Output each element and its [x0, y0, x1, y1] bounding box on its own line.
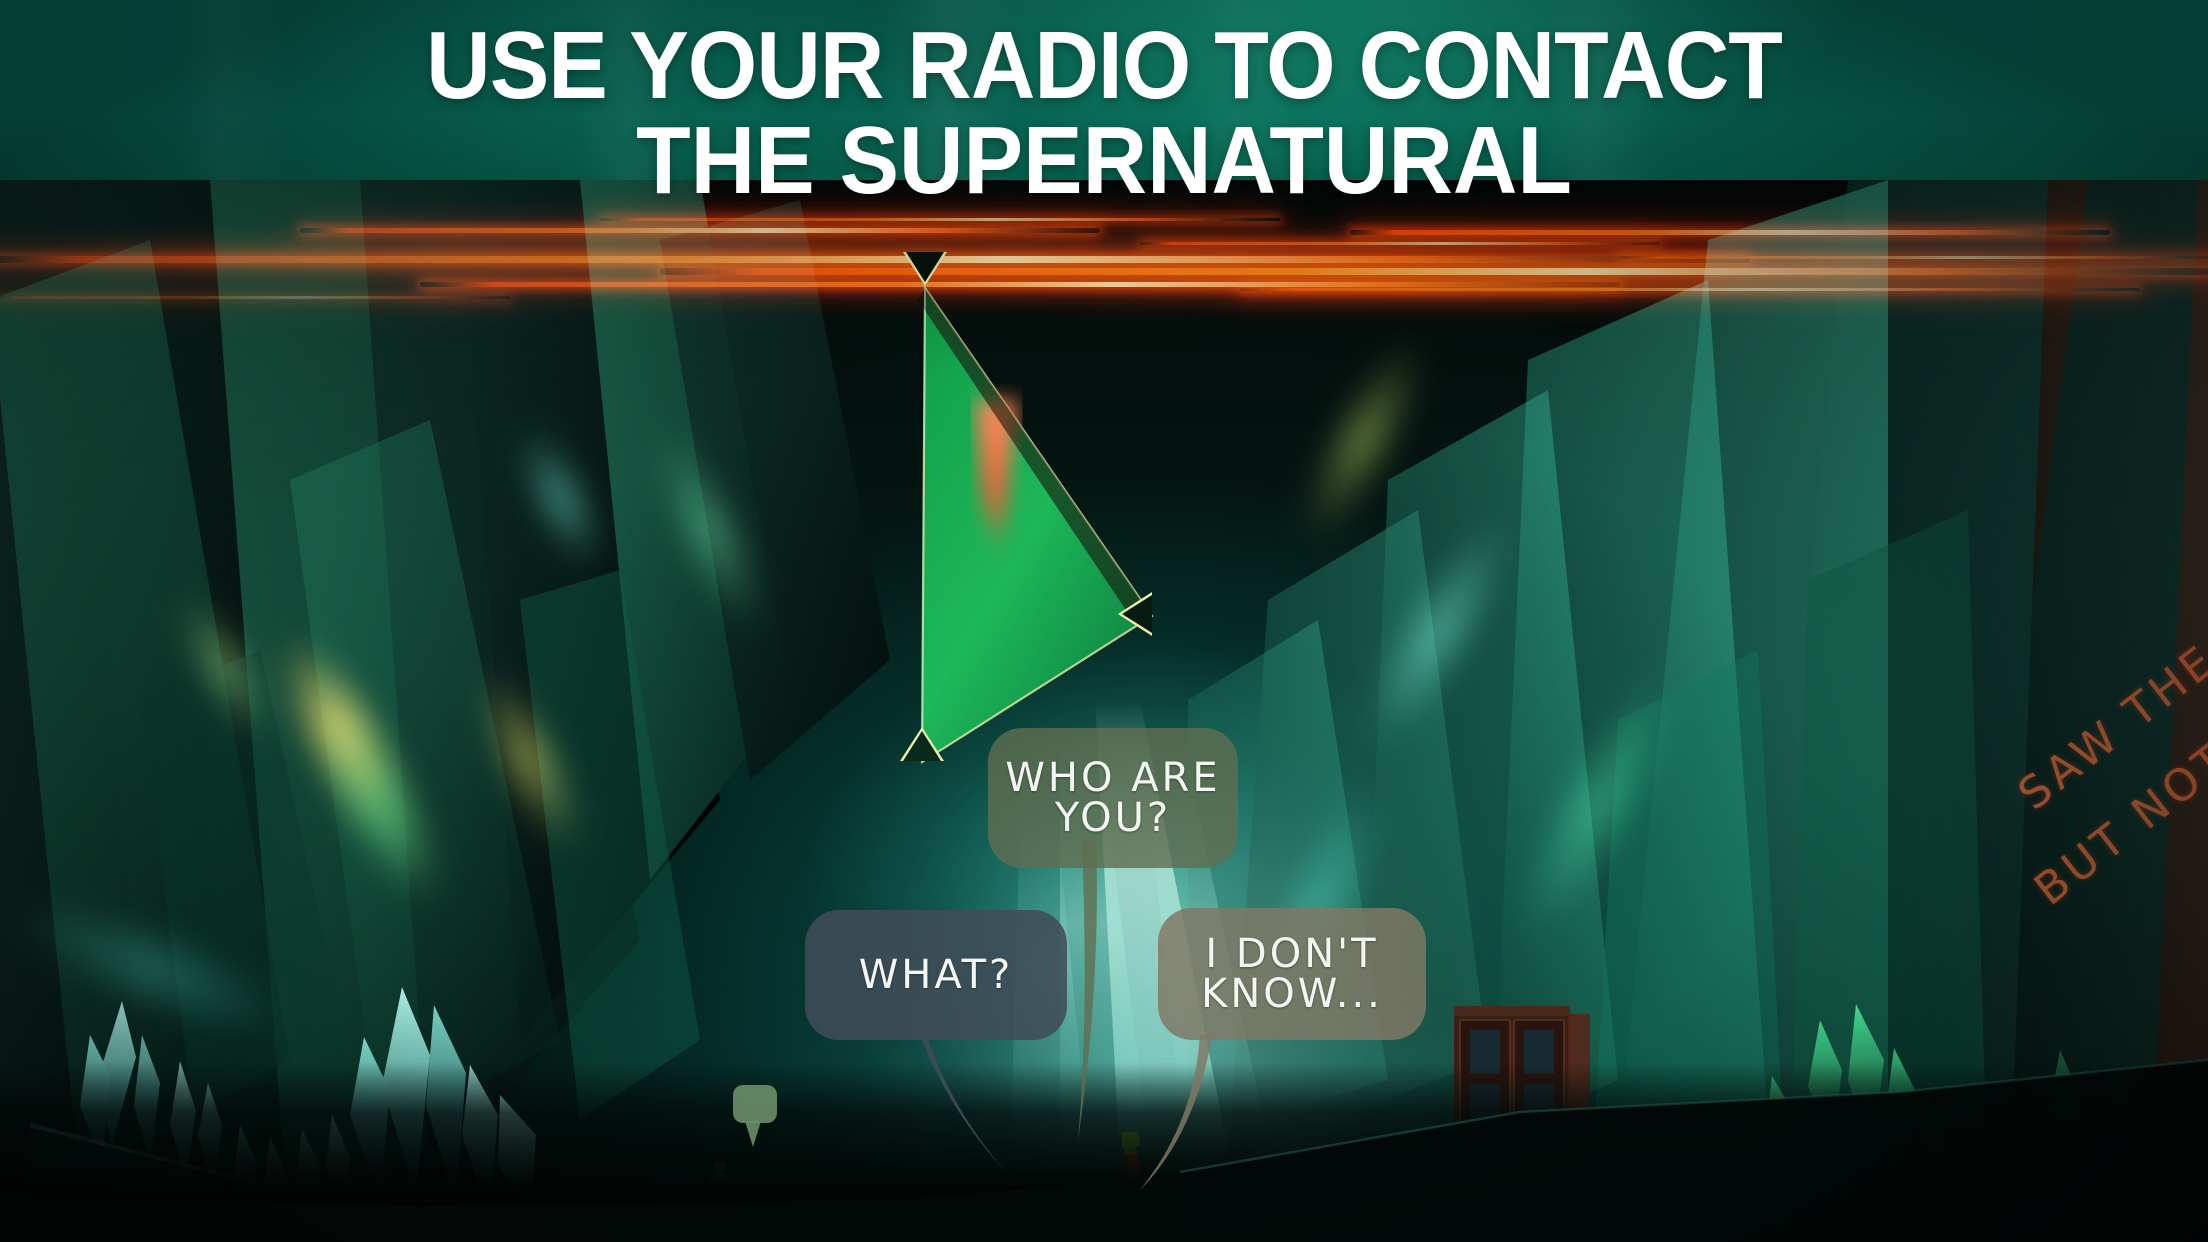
headline-line-2: THE SUPERNATURAL — [77, 113, 2130, 208]
speech-bubble-empty[interactable] — [733, 1085, 777, 1123]
speech-bubble-i-dont-know[interactable]: I DON'T KNOW... — [1158, 908, 1426, 1040]
game-promo-screenshot: SAW THE MAN BUT NOT — [0, 0, 2208, 1242]
cave-floor — [0, 1062, 2208, 1242]
speech-bubble-idk-text: I DON'T KNOW... — [1158, 934, 1426, 1014]
speech-bubble-empty-tail — [745, 1121, 761, 1147]
promo-headline: USE YOUR RADIO TO CONTACT THE SUPERNATUR… — [77, 18, 2130, 208]
speech-bubble-who-text: WHO ARE YOU? — [988, 758, 1238, 838]
speech-bubble-who-are-you[interactable]: WHO ARE YOU? — [988, 728, 1238, 868]
speech-bubble-what[interactable]: WHAT? — [805, 910, 1067, 1040]
speech-bubble-what-text: WHAT? — [859, 955, 1014, 995]
headline-line-1: USE YOUR RADIO TO CONTACT — [77, 18, 2130, 113]
